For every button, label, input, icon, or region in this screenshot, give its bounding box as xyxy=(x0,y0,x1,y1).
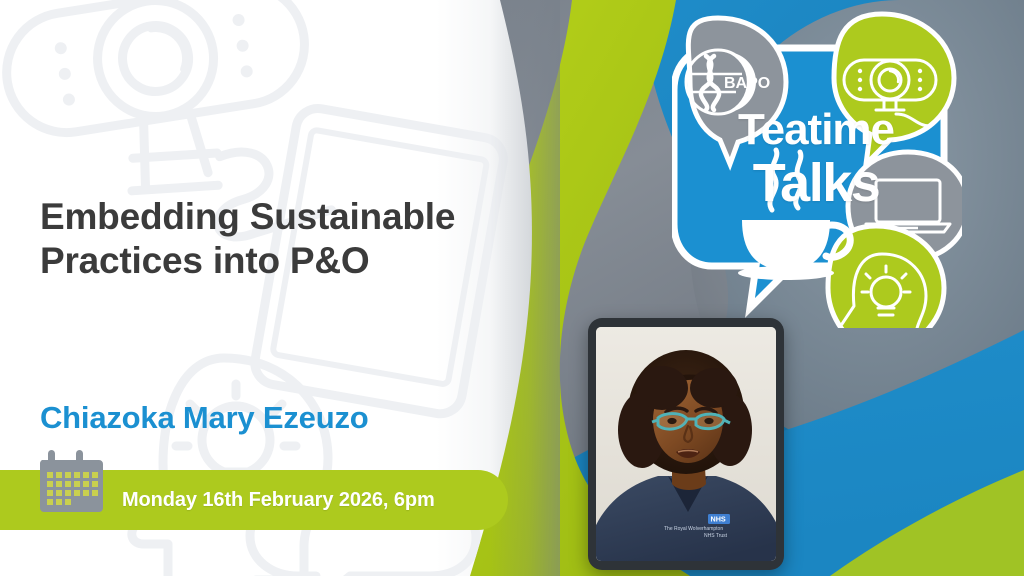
calendar-icon xyxy=(40,448,106,514)
logo-title-line2: Talks xyxy=(696,156,936,210)
nhs-logo-text: NHS xyxy=(711,514,726,523)
head-lightbulb-bubble xyxy=(828,226,944,328)
speaker-name: Chiazoka Mary Ezeuzo xyxy=(40,400,540,436)
speaker-photo-tablet: NHS The Royal Wolverhampton NHS Trust xyxy=(588,318,784,570)
promo-graphic: Embedding Sustainable Practices into P&O… xyxy=(0,0,1024,576)
teatime-talks-logo: BAPO xyxy=(672,8,962,328)
logo-title-line1: Teatime xyxy=(696,108,936,152)
event-date-text: Monday 16th February 2026, 6pm xyxy=(122,470,435,530)
tablet-screen: NHS The Royal Wolverhampton NHS Trust xyxy=(596,327,776,561)
trust-name-line1: The Royal Wolverhampton xyxy=(664,526,723,532)
page-title: Embedding Sustainable Practices into P&O xyxy=(40,195,520,284)
head-lightbulb-icon xyxy=(840,254,926,328)
speaker-portrait: NHS The Royal Wolverhampton NHS Trust xyxy=(596,327,776,561)
trust-name-line2: NHS Trust xyxy=(704,533,728,539)
bapo-label: BAPO xyxy=(724,75,770,92)
